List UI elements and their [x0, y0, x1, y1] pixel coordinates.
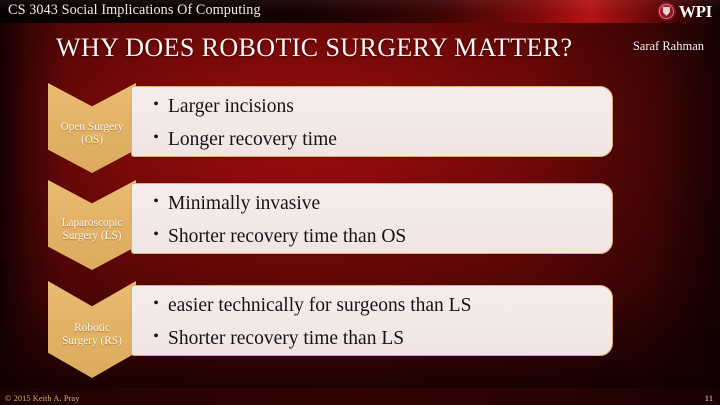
- slide-canvas: CS 3043 Social Implications Of Computing…: [0, 0, 720, 405]
- chevron-label-line: (OS): [48, 134, 136, 147]
- bullet-list: • easier technically for surgeons than L…: [132, 286, 612, 348]
- bullet-icon: •: [146, 194, 166, 210]
- chevron-label-line: Surgery (RS): [48, 335, 136, 348]
- copyright-notice: © 2015 Keith A. Pray: [5, 394, 79, 403]
- content-panel-open-surgery: • Larger incisions • Longer recovery tim…: [131, 86, 613, 157]
- chevron-label-laparoscopic-surgery: Laparoscopic Surgery (LS): [48, 217, 136, 244]
- list-item-label: Shorter recovery time than LS: [168, 329, 404, 349]
- list-item-label: Shorter recovery time than OS: [168, 227, 406, 247]
- chevron-list: Open Surgery (OS) • Larger incisions • L…: [0, 0, 720, 405]
- list-item: • Longer recovery time: [146, 130, 612, 150]
- chevron-label-line: Laparoscopic: [48, 217, 136, 230]
- bullet-icon: •: [146, 296, 166, 312]
- chevron-label-line: Surgery (LS): [48, 230, 136, 243]
- bullet-icon: •: [146, 130, 166, 146]
- list-item: • Shorter recovery time than LS: [146, 329, 612, 349]
- content-panel-laparoscopic-surgery: • Minimally invasive • Shorter recovery …: [131, 183, 613, 254]
- list-item-label: Minimally invasive: [168, 194, 320, 214]
- list-item: • Larger incisions: [146, 97, 612, 117]
- chevron-label-robotic-surgery: Robotic Surgery (RS): [48, 322, 136, 349]
- page-number: 11: [705, 393, 713, 403]
- list-item: • Minimally invasive: [146, 194, 612, 214]
- list-item: • Shorter recovery time than OS: [146, 227, 612, 247]
- chevron-label-line: Open Surgery: [48, 121, 136, 134]
- content-panel-robotic-surgery: • easier technically for surgeons than L…: [131, 285, 613, 356]
- footer-bar: [0, 388, 720, 405]
- bullet-list: • Minimally invasive • Shorter recovery …: [132, 184, 612, 246]
- list-item-label: easier technically for surgeons than LS: [168, 296, 471, 316]
- bullet-list: • Larger incisions • Longer recovery tim…: [132, 87, 612, 149]
- bullet-icon: •: [146, 227, 166, 243]
- bullet-icon: •: [146, 329, 166, 345]
- chevron-label-open-surgery: Open Surgery (OS): [48, 121, 136, 148]
- chevron-label-line: Robotic: [48, 322, 136, 335]
- bullet-icon: •: [146, 97, 166, 113]
- list-item-label: Longer recovery time: [168, 130, 337, 150]
- list-item: • easier technically for surgeons than L…: [146, 296, 612, 316]
- list-item-label: Larger incisions: [168, 97, 294, 117]
